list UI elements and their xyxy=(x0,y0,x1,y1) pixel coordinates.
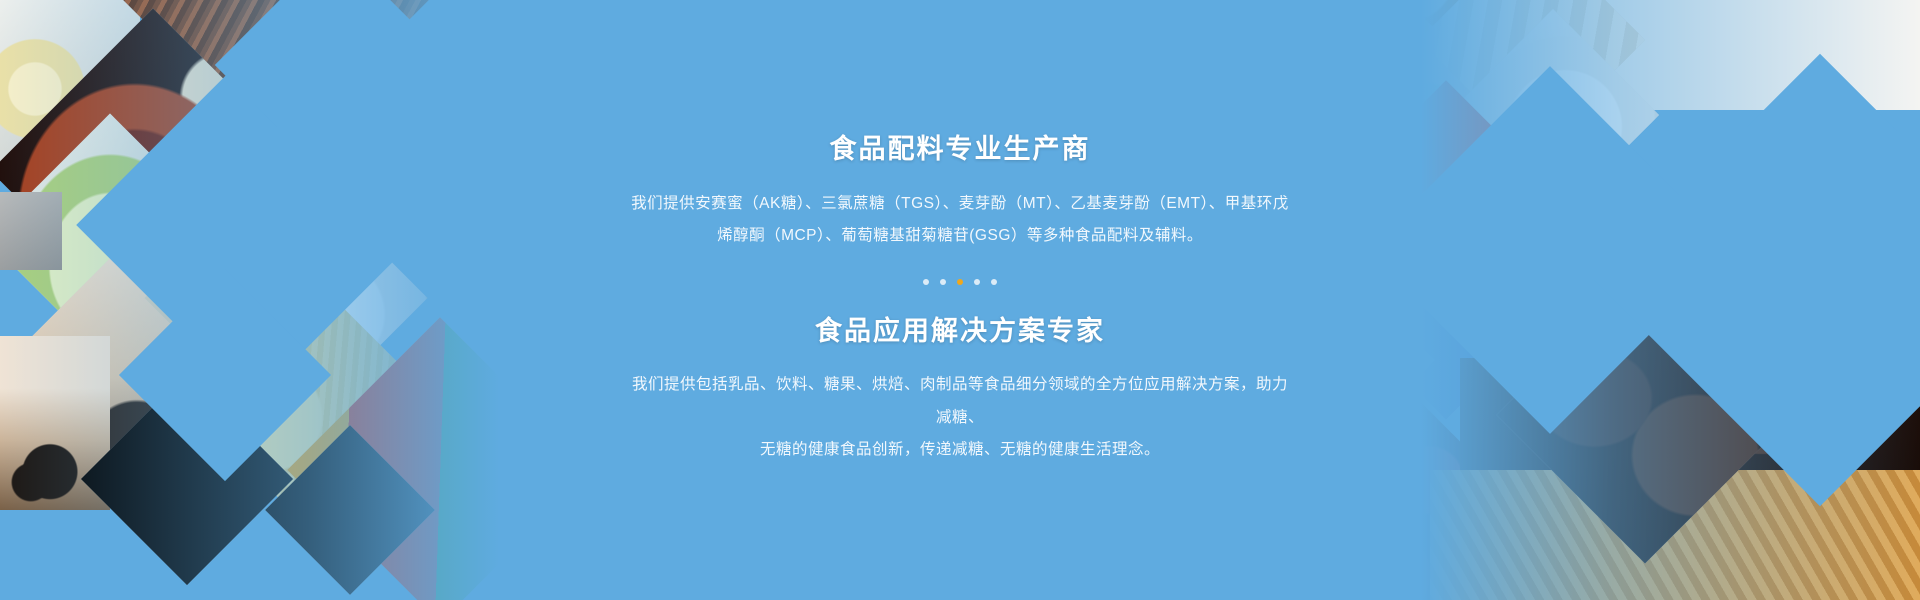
paragraph-primary-line1: 我们提供安赛蜜（AK糖）、三氯蔗糖（TGS）、麦芽酚（MT）、乙基麦芽酚（EMT… xyxy=(631,188,1289,221)
heading-secondary: 食品应用解决方案专家 xyxy=(630,315,1290,347)
separator-dot xyxy=(923,279,929,285)
separator-dot xyxy=(991,279,997,285)
paragraph-primary-line2: 烯醇酮（MCP）、葡萄糖基甜菊糖苷(GSG）等多种食品配料及辅料。 xyxy=(631,220,1289,253)
banner-copy: 食品配料专业生产商 我们提供安赛蜜（AK糖）、三氯蔗糖（TGS）、麦芽酚（MT）… xyxy=(0,0,1920,600)
separator-dot xyxy=(974,279,980,285)
block-two: 食品应用解决方案专家 我们提供包括乳品、饮料、糖果、烘焙、肉制品等食品细分领域的… xyxy=(630,315,1290,467)
paragraph-secondary: 我们提供包括乳品、饮料、糖果、烘焙、肉制品等食品细分领域的全方位应用解决方案，助… xyxy=(630,369,1290,467)
dot-separator xyxy=(923,279,997,285)
separator-dot xyxy=(940,279,946,285)
paragraph-secondary-line1: 我们提供包括乳品、饮料、糖果、烘焙、肉制品等食品细分领域的全方位应用解决方案，助… xyxy=(630,369,1290,434)
promo-banner: 食品配料专业生产商 我们提供安赛蜜（AK糖）、三氯蔗糖（TGS）、麦芽酚（MT）… xyxy=(0,0,1920,600)
block-one: 食品配料专业生产商 我们提供安赛蜜（AK糖）、三氯蔗糖（TGS）、麦芽酚（MT）… xyxy=(631,133,1289,252)
separator-dot-accent xyxy=(957,279,963,285)
paragraph-secondary-line2: 无糖的健康食品创新，传递减糖、无糖的健康生活理念。 xyxy=(630,434,1290,467)
heading-primary: 食品配料专业生产商 xyxy=(631,133,1289,165)
paragraph-primary: 我们提供安赛蜜（AK糖）、三氯蔗糖（TGS）、麦芽酚（MT）、乙基麦芽酚（EMT… xyxy=(631,188,1289,253)
